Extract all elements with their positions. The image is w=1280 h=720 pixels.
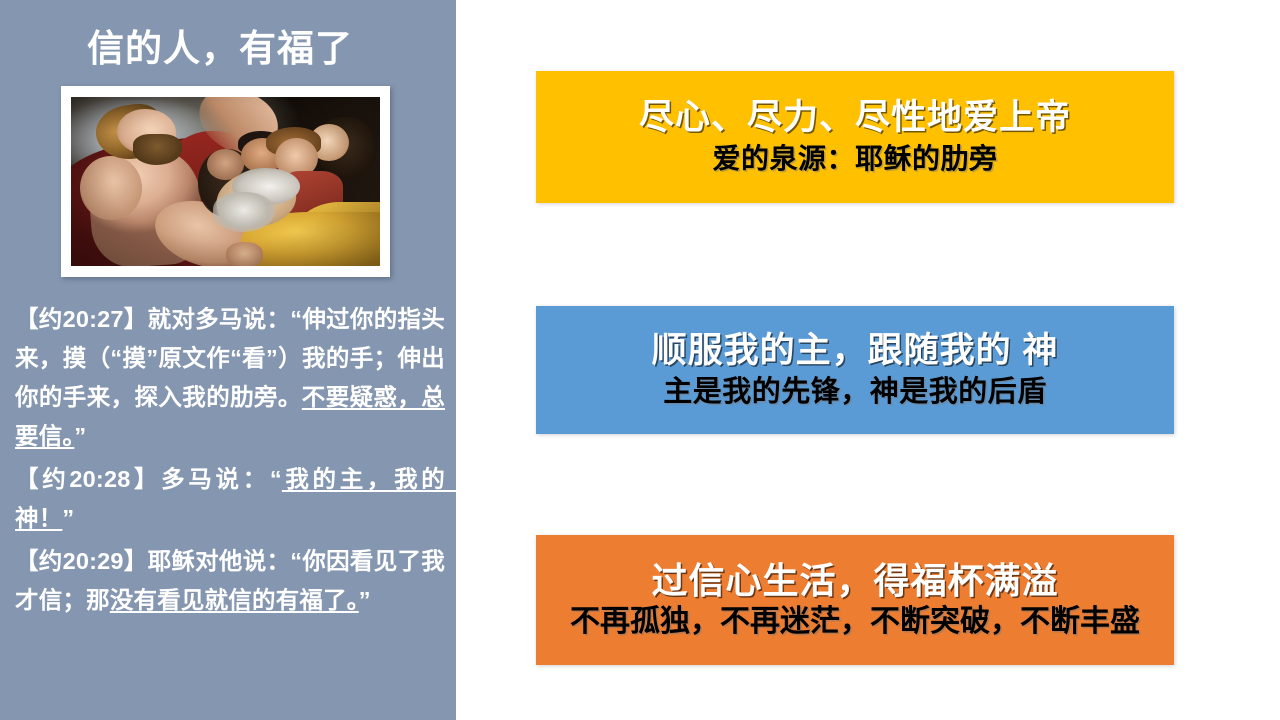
verse-reference: 【约20:28】: [15, 466, 161, 492]
banner-faith-life: 过信心生活，得福杯满溢 不再孤独，不再迷茫，不断突破，不断丰盛: [536, 535, 1174, 665]
painting-vignette: [71, 97, 380, 266]
presentation-slide: 信的人，有福了: [0, 0, 1280, 720]
verse-reference: 【约20:29】: [15, 548, 148, 574]
banner-obey-lord: 顺服我的主，跟随我的 神 主是我的先锋，神是我的后盾: [536, 306, 1174, 434]
banner-obey-lord-subheading: 主是我的先锋，神是我的后盾: [663, 373, 1047, 411]
verse-john-20-28: 【约20:28】多马说：“我的主，我的 神！”: [15, 460, 445, 538]
banner-love-god-subheading: 爱的泉源：耶稣的肋旁: [712, 140, 997, 178]
banner-faith-life-subheading: 不再孤独，不再迷茫，不断突破，不断丰盛: [570, 603, 1140, 641]
incredulity-of-saint-thomas-image: [71, 97, 380, 266]
painting-frame: [61, 86, 390, 277]
verse-text-plain: 多马说：“: [161, 466, 282, 492]
banner-love-god-heading: 尽心、尽力、尽性地爱上帝: [639, 96, 1071, 140]
verse-text-underlined: 没有看见就信的有福了。: [110, 587, 359, 613]
verse-john-20-27: 【约20:27】就对多马说：“伸过你的指头来，摸（“摸”原文作“看”）我的手；伸…: [15, 300, 445, 456]
verse-text-closing-quote: ”: [74, 423, 86, 449]
verse-text-closing-quote: ”: [62, 505, 74, 531]
verse-reference: 【约20:27】: [15, 306, 148, 332]
banner-obey-lord-heading: 顺服我的主，跟随我的 神: [652, 329, 1059, 373]
page-title: 信的人，有福了: [0, 26, 440, 72]
verse-text-closing-quote: ”: [359, 587, 371, 613]
verse-john-20-29: 【约20:29】耶稣对他说：“你因看见了我才信；那没有看见就信的有福了。”: [15, 542, 445, 620]
banner-faith-life-heading: 过信心生活，得福杯满溢: [651, 559, 1058, 603]
banner-love-god: 尽心、尽力、尽性地爱上帝 爱的泉源：耶稣的肋旁: [536, 71, 1174, 203]
scripture-passage: 【约20:27】就对多马说：“伸过你的指头来，摸（“摸”原文作“看”）我的手；伸…: [15, 300, 445, 620]
